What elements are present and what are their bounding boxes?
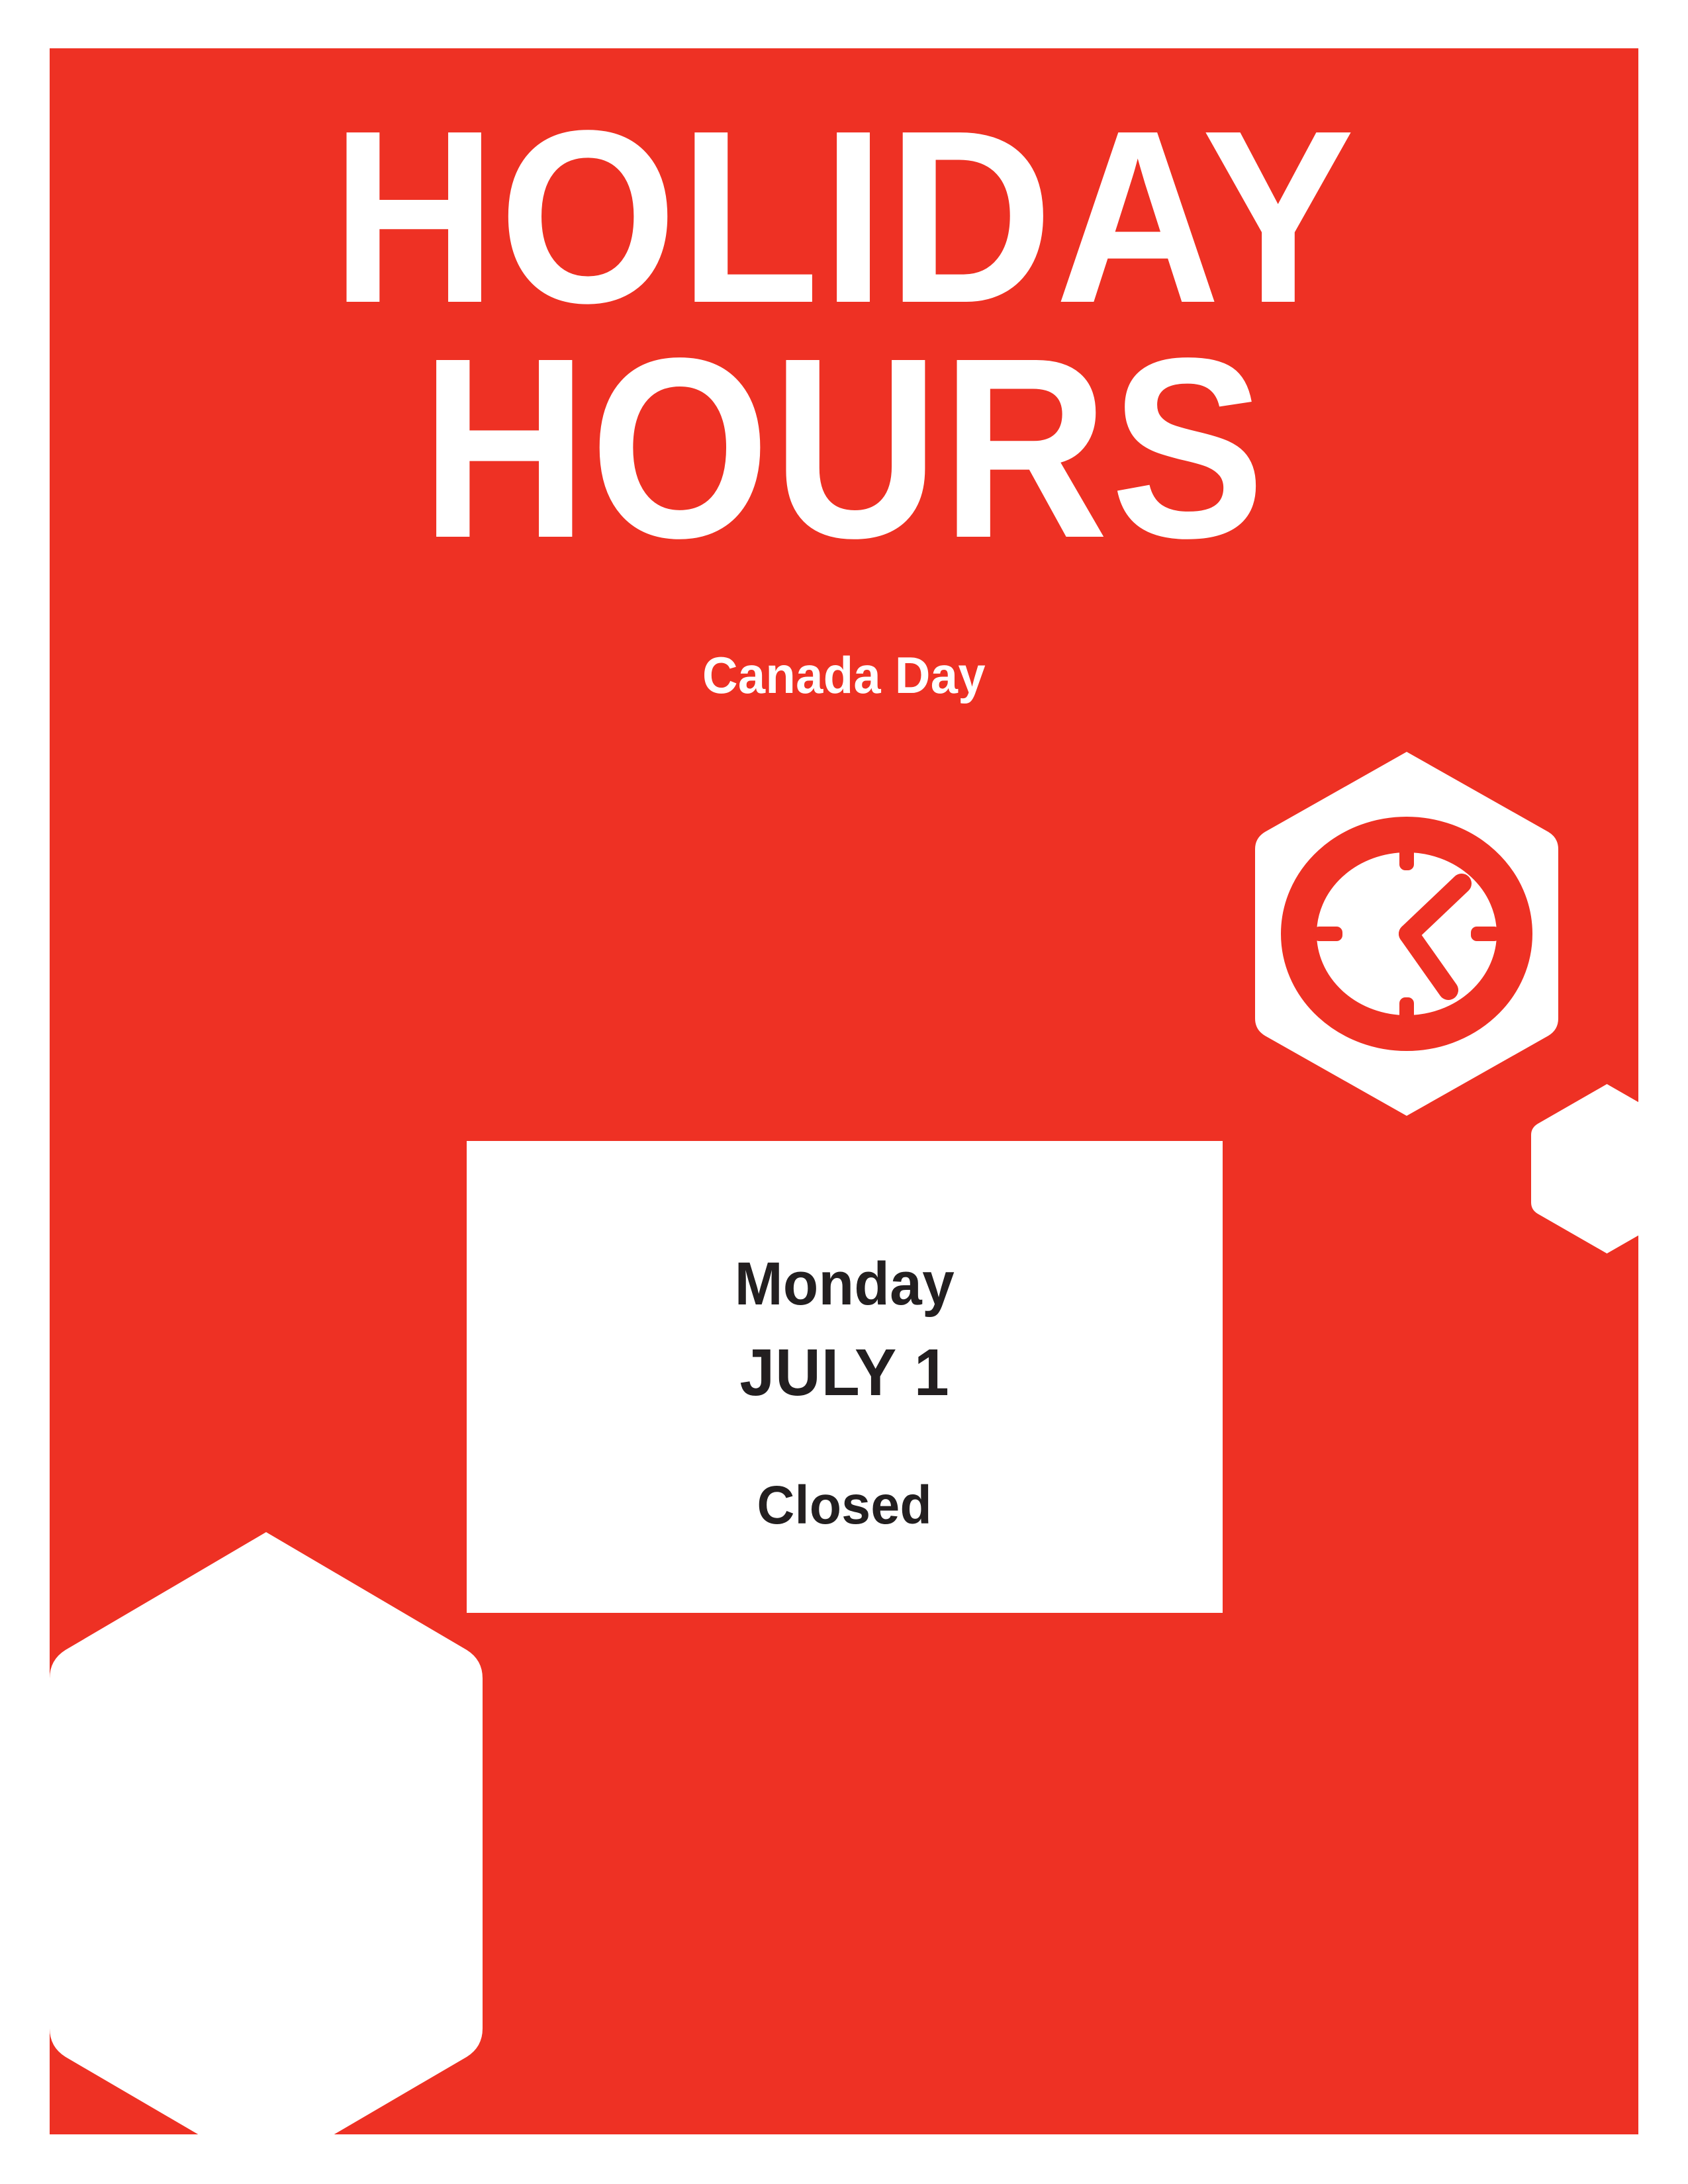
poster-background: HOLIDAY HOURS Canada Day [50, 48, 1638, 2134]
poster-canvas: HOLIDAY HOURS Canada Day [0, 0, 1688, 2184]
clock-icon [1251, 748, 1562, 1120]
status-badge: Closed [757, 1479, 932, 1533]
hours-info-card: Monday JULY 1 Closed [467, 1141, 1223, 1613]
large-hexagon [38, 1486, 494, 2184]
clock-badge [1251, 748, 1562, 1120]
card-date-label: JULY 1 [739, 1340, 949, 1406]
page-title-line-1: HOLIDAY [105, 111, 1583, 323]
page-subtitle: Canada Day [89, 649, 1599, 701]
page-title-line-2: HOURS [129, 338, 1559, 559]
card-day-label: Monday [735, 1253, 955, 1314]
